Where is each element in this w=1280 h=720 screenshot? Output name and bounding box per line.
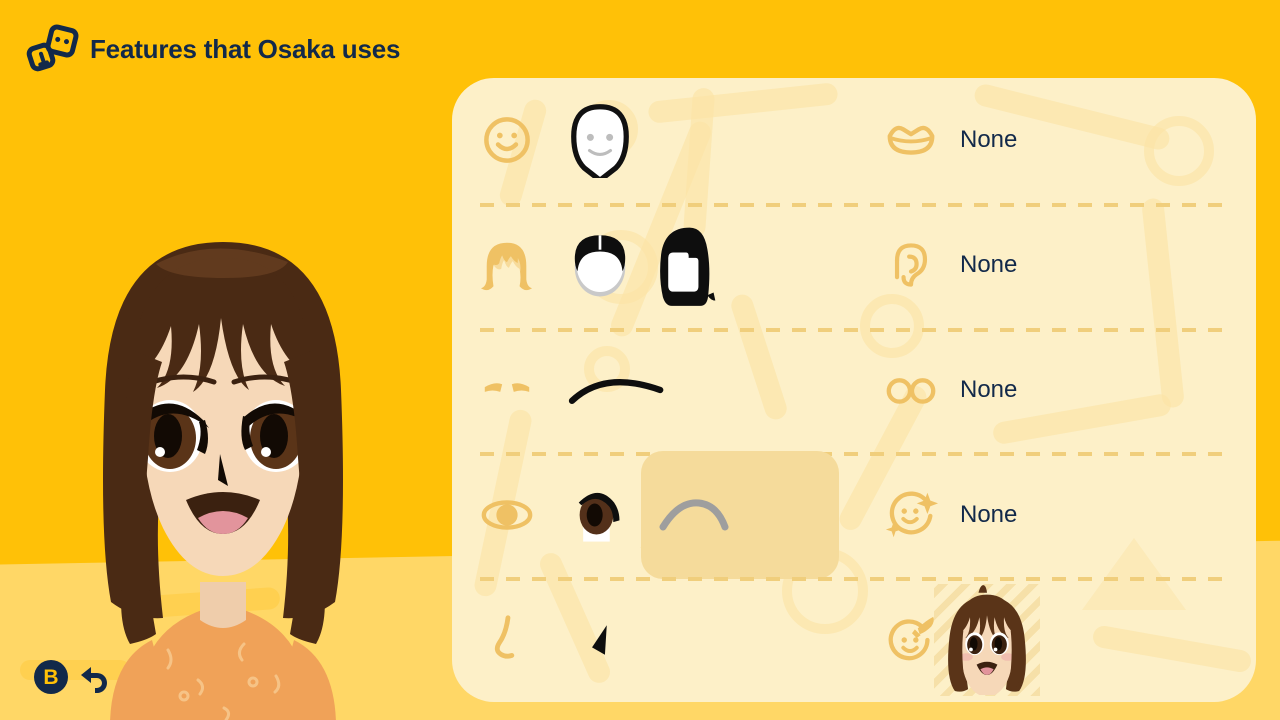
mii-blocks-icon xyxy=(28,26,78,72)
feature-cell-nose[interactable] xyxy=(452,577,854,702)
back-arrow-icon xyxy=(78,661,110,693)
eyelash-arc-icon xyxy=(659,495,733,535)
feature-cell-glasses[interactable]: None xyxy=(854,328,1256,453)
nose-thumb[interactable] xyxy=(562,598,646,682)
mouth-icon xyxy=(882,111,940,169)
feature-cell-face-shape[interactable] xyxy=(452,78,854,203)
back-hint[interactable]: B xyxy=(34,660,110,694)
face-shape-thumb[interactable] xyxy=(558,98,642,182)
eye-icon xyxy=(478,486,536,544)
page-header: Features that Osaka uses xyxy=(28,26,400,72)
mii-face-thumbnail[interactable] xyxy=(934,584,1040,696)
b-button[interactable]: B xyxy=(34,660,68,694)
feature-cell-face-paint[interactable] xyxy=(854,577,1256,702)
eyebrow-icon xyxy=(478,361,536,419)
feature-cell-makeup[interactable]: None xyxy=(854,452,1256,577)
glasses-icon xyxy=(882,361,940,419)
mii-features-screen: Features that Osaka uses xyxy=(0,0,1280,720)
ear-value: None xyxy=(960,251,1017,279)
ear-icon xyxy=(882,236,940,294)
eye-thumb[interactable] xyxy=(558,473,642,557)
feature-row: None xyxy=(452,78,1256,203)
feature-cell-eye[interactable] xyxy=(452,452,854,577)
feature-row: None xyxy=(452,328,1256,453)
feature-cell-hair[interactable] xyxy=(452,203,854,328)
feature-row-list: None xyxy=(452,78,1256,702)
glasses-value: None xyxy=(960,376,1017,404)
makeup-icon xyxy=(882,486,940,544)
eyebrow-thumb[interactable] xyxy=(562,348,672,432)
mii-character-preview xyxy=(48,230,398,720)
feature-row: None xyxy=(452,203,1256,328)
features-panel: None xyxy=(452,78,1256,702)
page-title: Features that Osaka uses xyxy=(90,34,400,65)
feature-cell-mouth[interactable]: None xyxy=(854,78,1256,203)
mouth-value: None xyxy=(960,126,1017,154)
hair-icon xyxy=(478,236,536,294)
hair-side-thumb[interactable] xyxy=(652,223,736,307)
makeup-value: None xyxy=(960,501,1017,529)
face-shape-icon xyxy=(478,111,536,169)
nose-icon xyxy=(478,611,536,669)
feature-row xyxy=(452,577,1256,702)
hair-front-thumb[interactable] xyxy=(558,223,642,307)
feature-cell-eyebrow[interactable] xyxy=(452,328,854,453)
eyelash-selected-slot[interactable] xyxy=(641,451,839,579)
face-paint-icon xyxy=(882,611,940,669)
feature-cell-ear[interactable]: None xyxy=(854,203,1256,328)
feature-row: None xyxy=(452,452,1256,577)
